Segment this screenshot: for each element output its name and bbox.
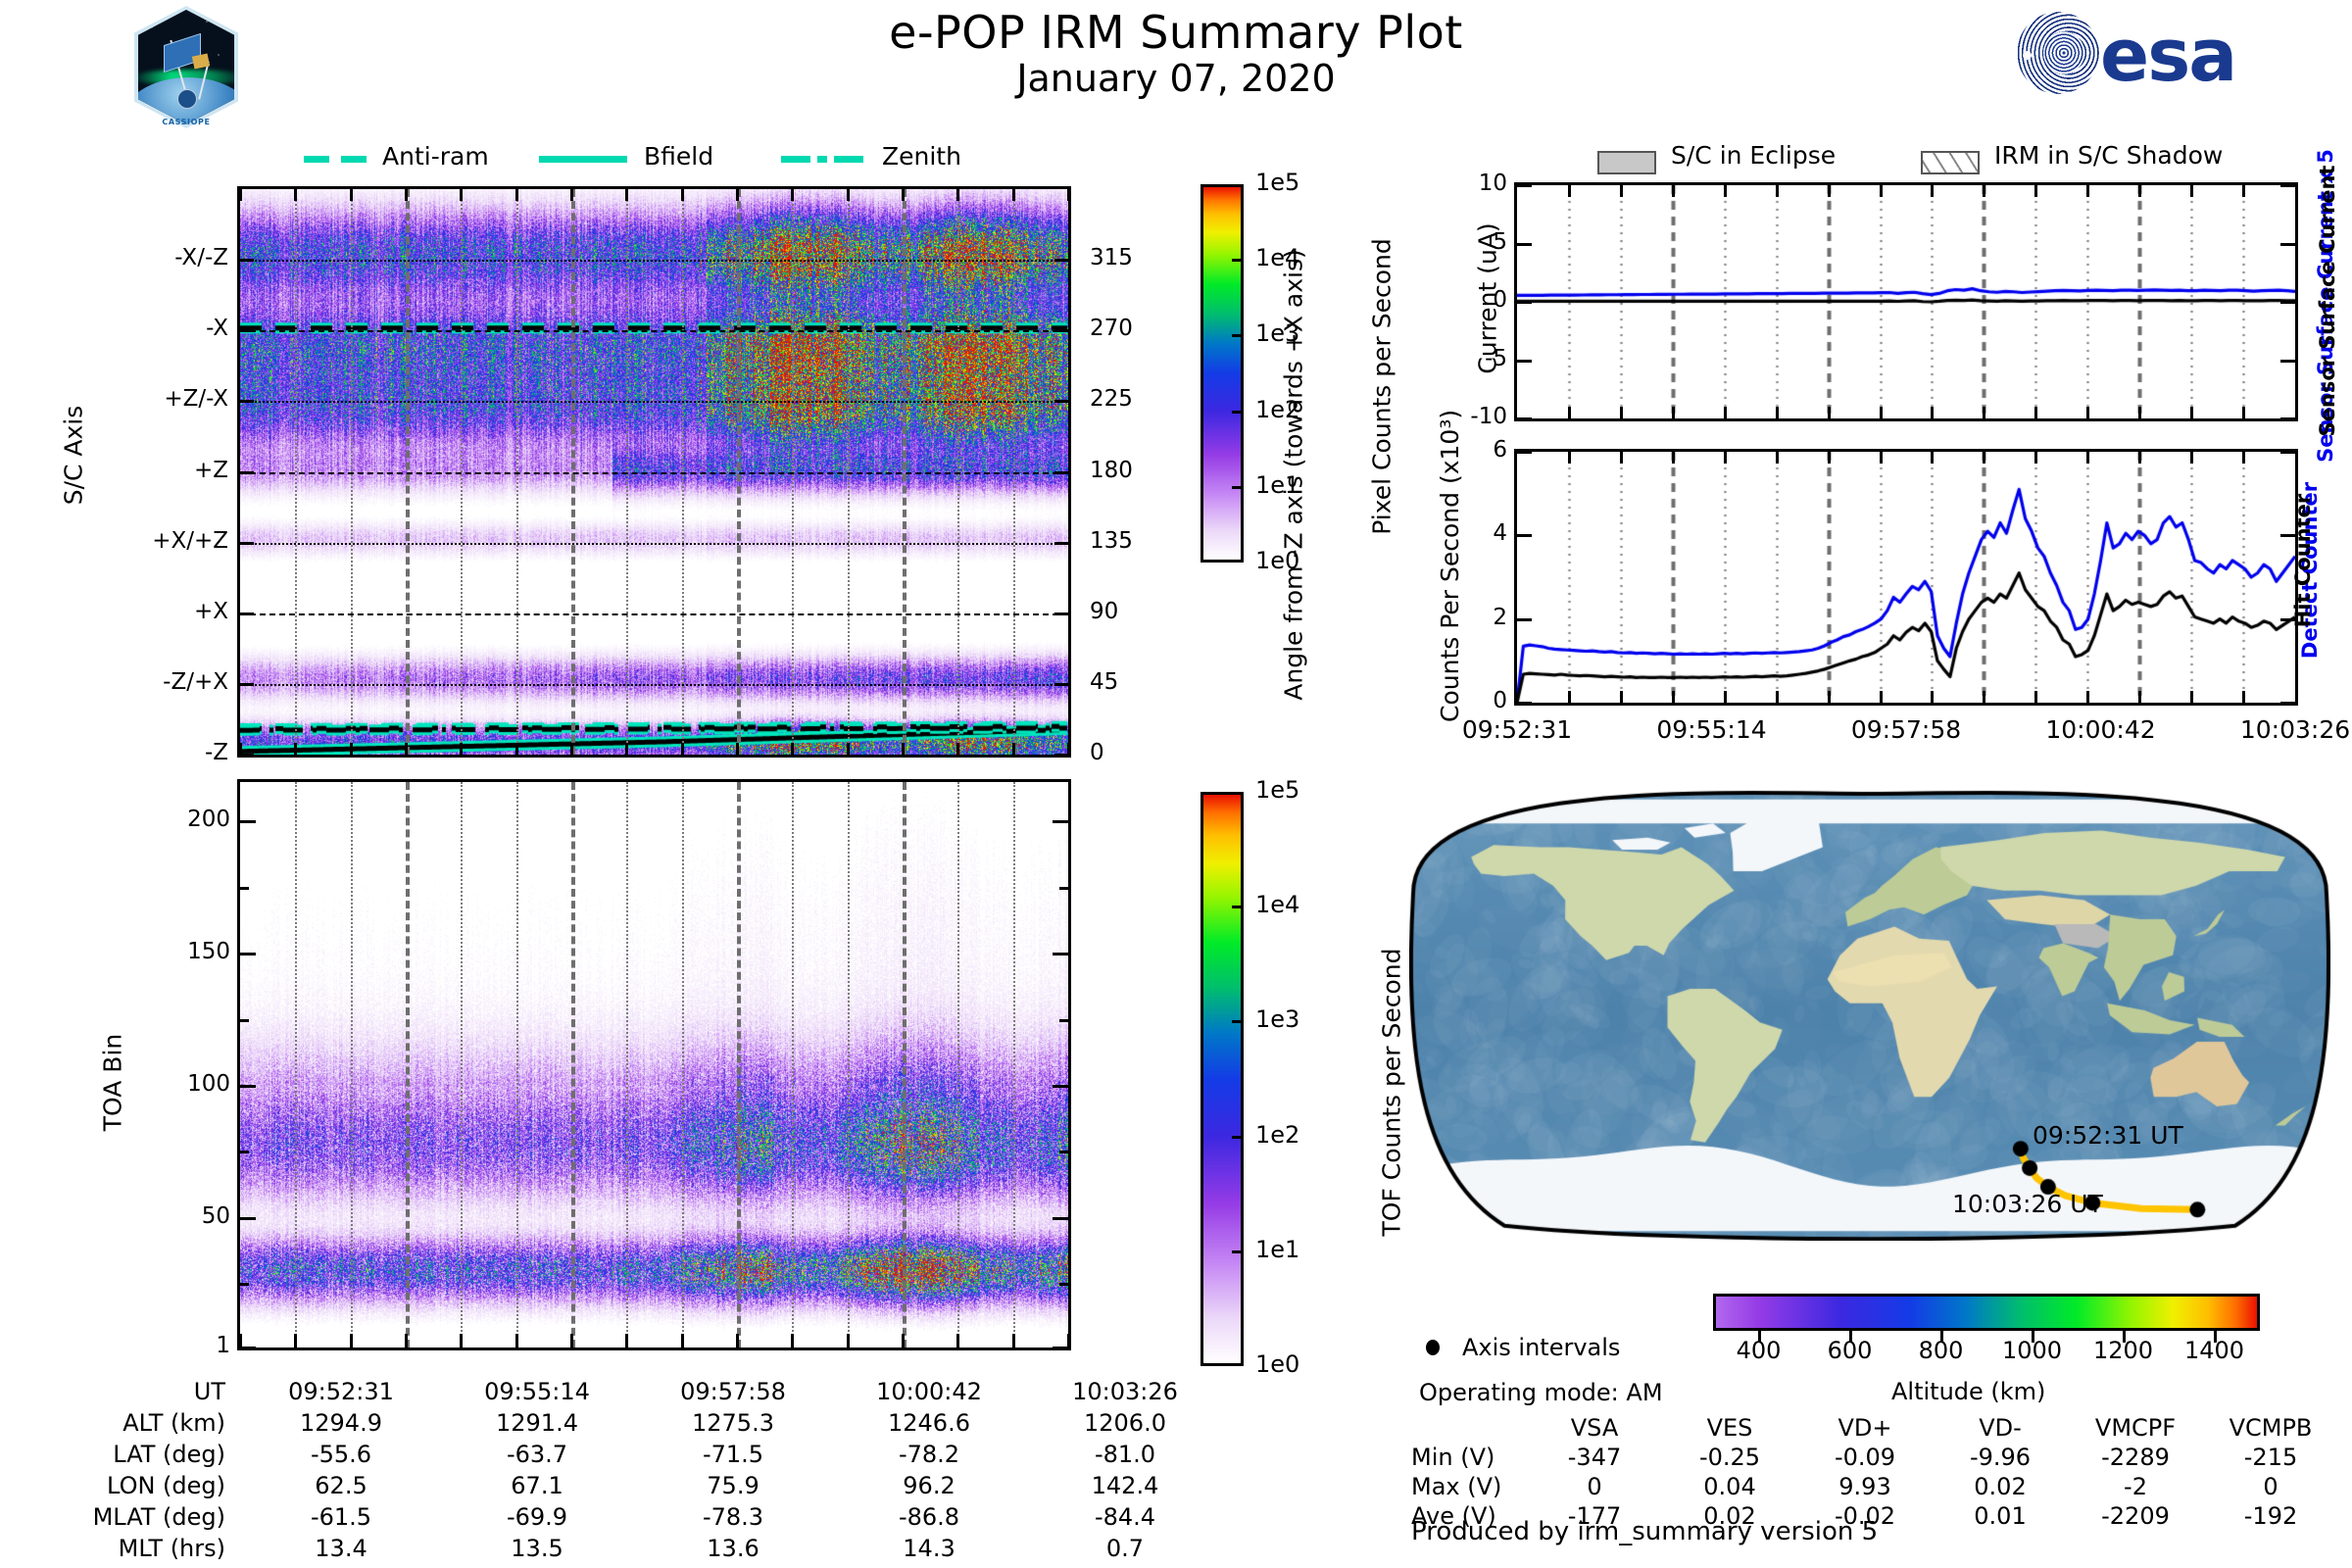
right-tick-mark [1054, 400, 1068, 403]
y-tick-label: 10 [1404, 171, 1507, 196]
angle-separator [240, 684, 1068, 686]
left-tick-mark [240, 471, 254, 474]
ephemeris-cell: 96.2 [831, 1470, 1027, 1501]
left-tick-mark [240, 754, 254, 757]
voltage-cell: 0.01 [1933, 1501, 2068, 1531]
x-tick-mark-top [1724, 452, 1727, 464]
pixel-counts-colorbar-label: Pixel Counts per Second [1368, 201, 1396, 573]
toa-tick-mark-right [1053, 1085, 1068, 1088]
voltage-row: Max (V)00.049.930.02-20 [1411, 1472, 2338, 1501]
spectrogram-left-tick-6: -Z/+X [52, 669, 228, 695]
bfield-legend-swatch [539, 156, 627, 163]
spectrogram-left-tick-0: -X/-Z [52, 245, 228, 270]
toa-minor-tick-right [1059, 887, 1068, 890]
toa-tick-mark-right [1053, 953, 1068, 955]
x-tick-mark-top [1620, 185, 1623, 197]
counts-x-tick-label-2: 09:57:58 [1808, 715, 2004, 744]
x-tick-mark-top [1828, 452, 1831, 464]
angle-x-tick-top [570, 189, 573, 201]
x-tick-mark [2242, 691, 2245, 703]
voltage-column-header: VMCPF [2068, 1413, 2203, 1443]
page-subtitle-date: January 07, 2020 [725, 57, 1627, 100]
voltage-header-row: VSAVESVD+VD-VMCPFVCMPB [1411, 1413, 2338, 1443]
spectrogram-left-tick-1: -X [52, 316, 228, 341]
y-tick-mark-right [2280, 417, 2295, 420]
ephemeris-row: LON (deg)62.567.175.996.2142.4 [59, 1470, 1223, 1501]
right-tick-mark [1054, 542, 1068, 545]
x-tick-mark [1568, 691, 1571, 703]
right-tick-mark [1054, 612, 1068, 615]
sc-in-eclipse-swatch [1597, 151, 1656, 174]
angle-separator [240, 260, 1068, 262]
x-tick-mark [1724, 407, 1727, 418]
x-tick-mark-top [1568, 185, 1571, 197]
voltage-column-header: VD+ [1797, 1413, 1933, 1443]
voltage-cell: -0.09 [1797, 1443, 1933, 1472]
x-tick-mark-top [1776, 185, 1779, 197]
left-tick-mark [240, 542, 254, 545]
toa-tick-mark [240, 820, 256, 823]
voltage-corner [1411, 1413, 1527, 1443]
colorbar-tick [1232, 411, 1244, 414]
gridline-vertical [516, 782, 518, 1347]
y-tick-mark [1517, 702, 1532, 705]
colorbar-tick-label: 1e3 [1255, 319, 1299, 347]
ephemeris-cell: 1291.4 [439, 1407, 635, 1439]
altitude-tick [1758, 1331, 1761, 1343]
angle-x-tick-top [847, 189, 850, 201]
altitude-tick [2214, 1331, 2217, 1343]
angle-x-tick [625, 743, 628, 755]
y-tick-mark [1517, 417, 1532, 420]
angle-x-tick-top [294, 189, 297, 201]
angle-separator [240, 401, 1068, 403]
tof-counts-colorbar-label: TOF Counts per Second [1378, 906, 1406, 1279]
toa-tick-mark [240, 1217, 256, 1220]
x-tick-mark [1672, 407, 1675, 418]
angle-x-tick-top [350, 189, 353, 201]
gridline-vertical [1013, 782, 1015, 1347]
toa-tick-label-3: 150 [93, 939, 230, 964]
ephemeris-cell: 62.5 [243, 1470, 439, 1501]
gridline-vertical [295, 782, 297, 1347]
x-tick-mark-top [2086, 452, 2089, 464]
angle-x-tick [791, 743, 794, 755]
angle-x-tick-top [902, 189, 905, 201]
ephemeris-cell: 1294.9 [243, 1407, 439, 1439]
spectrogram-right-tick-1: 270 [1090, 316, 1178, 341]
left-tick-mark [240, 259, 254, 262]
voltage-cell: -9.96 [1933, 1443, 2068, 1472]
angle-x-tick-top [736, 189, 739, 201]
gridline-vertical [957, 782, 959, 1347]
x-tick-mark-top [1620, 452, 1623, 464]
colorbar-tick-label: 1e0 [1255, 1350, 1299, 1378]
ephemeris-cell: 10:03:26 [1027, 1376, 1223, 1407]
altitude-tick [1849, 1331, 1852, 1343]
colorbar-tick-label: 1e5 [1255, 776, 1299, 804]
colorbar-tick [1232, 486, 1244, 489]
toa-x-tick [902, 1334, 905, 1347]
colorbar-tick-label: 1e3 [1255, 1005, 1299, 1033]
x-tick-mark-top [1880, 452, 1883, 464]
toa-x-tick [1012, 1334, 1015, 1347]
toa-x-tick [681, 1334, 684, 1347]
angle-x-tick [902, 743, 905, 755]
angle-x-tick-top [681, 189, 684, 201]
y-tick-label: 6 [1404, 437, 1507, 463]
ephemeris-cell: 67.1 [439, 1470, 635, 1501]
ephemeris-row-label: MLAT (deg) [59, 1501, 243, 1533]
toa-x-tick [570, 1334, 573, 1347]
current-panel [1514, 182, 2298, 421]
spectrogram-left-tick-7: -Z [52, 740, 228, 765]
gridline-vertical [351, 782, 353, 1347]
x-tick-mark-top [2190, 185, 2193, 197]
spectrogram-right-tick-4: 135 [1090, 528, 1178, 554]
altitude-tick [2123, 1331, 2126, 1343]
toa-tick-label-1: 50 [93, 1203, 230, 1229]
x-tick-mark [2034, 407, 2037, 418]
colorbar-tick [1232, 259, 1244, 262]
altitude-colorbar [1713, 1294, 2260, 1331]
y-tick-mark-right [2280, 702, 2295, 705]
toa-x-tick [294, 1334, 297, 1347]
ephemeris-cell: 10:00:42 [831, 1376, 1027, 1407]
toa-x-tick [625, 1334, 628, 1347]
voltage-cell: -347 [1527, 1443, 1662, 1472]
x-tick-mark [1724, 691, 1727, 703]
x-tick-mark [1620, 691, 1623, 703]
voltage-cell: -0.25 [1662, 1443, 1797, 1472]
ephemeris-cell: -61.5 [243, 1501, 439, 1533]
tof-counts-colorbar [1200, 792, 1244, 1366]
gridline-vertical [682, 782, 684, 1347]
voltage-cell: -192 [2203, 1501, 2338, 1531]
x-tick-mark-top [2034, 452, 2037, 464]
voltage-table: VSAVESVD+VD-VMCPFVCMPBMin (V)-347-0.25-0… [1411, 1413, 2338, 1531]
ephemeris-table: UT09:52:3109:55:1409:57:5810:00:4210:03:… [59, 1376, 1223, 1564]
toa-bin-spectrogram-panel [237, 779, 1071, 1350]
y-tick-mark [1517, 534, 1532, 537]
x-tick-mark-top [2086, 185, 2089, 197]
ephemeris-row-label: LAT (deg) [59, 1439, 243, 1470]
angle-x-tick-top [956, 189, 959, 201]
left-tick-mark [240, 329, 254, 332]
zenith-legend-swatch-dot [817, 156, 827, 163]
y-tick-label: -5 [1404, 346, 1507, 371]
x-tick-mark [1776, 407, 1779, 418]
x-tick-mark-top [2138, 452, 2141, 464]
ephemeris-cell: -86.8 [831, 1501, 1027, 1533]
toa-tick-label-0: 1 [93, 1333, 230, 1358]
colorbar-tick-label: 1e5 [1255, 169, 1299, 196]
toa-tick-label-2: 100 [93, 1071, 230, 1097]
voltage-cell: -2 [2068, 1472, 2203, 1501]
right-tick-mark [1054, 259, 1068, 262]
colorbar-tick [1232, 334, 1244, 337]
ephemeris-row-label: MLT (hrs) [59, 1533, 243, 1564]
toa-x-tick [1067, 1334, 1070, 1347]
angle-separator [240, 472, 1068, 474]
y-tick-mark-right [2280, 184, 2295, 187]
angle-separator [240, 330, 1068, 332]
x-tick-mark [1880, 691, 1883, 703]
right-tick-mark [1054, 683, 1068, 686]
x-tick-mark-top [1776, 452, 1779, 464]
x-tick-mark-top [2242, 452, 2245, 464]
cassiope-mission-patch-icon: CASSIOPE [132, 6, 240, 128]
angle-x-tick-top [515, 189, 518, 201]
angle-x-tick [294, 743, 297, 755]
ephemeris-cell: -84.4 [1027, 1501, 1223, 1533]
counts-x-tick-label-0: 09:52:31 [1419, 715, 1615, 744]
x-tick-mark [2138, 691, 2141, 703]
angle-x-tick [956, 743, 959, 755]
ephemeris-cell: 14.3 [831, 1533, 1027, 1564]
voltage-column-header: VES [1662, 1413, 1797, 1443]
angle-x-tick-top [460, 189, 463, 201]
y-tick-mark [1517, 243, 1532, 246]
x-tick-mark [1568, 407, 1571, 418]
toa-tick-mark-right [1053, 820, 1068, 823]
gridline-vertical [626, 782, 628, 1347]
toa-minor-tick [240, 1283, 249, 1286]
angle-x-tick-top [791, 189, 794, 201]
toa-tick-mark-right [1053, 1347, 1068, 1349]
angle-x-tick-top [1012, 189, 1015, 201]
x-tick-mark [1828, 691, 1831, 703]
x-tick-mark [2138, 407, 2141, 418]
y-tick-mark [1517, 184, 1532, 187]
ephemeris-cell: 1206.0 [1027, 1407, 1223, 1439]
toa-minor-tick [240, 887, 249, 890]
toa-x-tick [515, 1334, 518, 1347]
ephemeris-cell: 1275.3 [635, 1407, 831, 1439]
y-tick-label: 0 [1404, 287, 1507, 313]
gridline-vertical [737, 782, 741, 1347]
x-tick-mark-top [2242, 185, 2245, 197]
voltage-cell: -2289 [2068, 1443, 2203, 1472]
ephemeris-cell: 13.5 [439, 1533, 635, 1564]
ephemeris-cell: -71.5 [635, 1439, 831, 1470]
voltage-cell: 0 [2203, 1472, 2338, 1501]
altitude-tick [2032, 1331, 2034, 1343]
colorbar-tick-label: 1e2 [1255, 1121, 1299, 1149]
ephemeris-row: UT09:52:3109:55:1409:57:5810:00:4210:03:… [59, 1376, 1223, 1407]
y-tick-mark-right [2280, 360, 2295, 363]
y-tick-mark [1517, 451, 1532, 454]
ephemeris-cell: 13.6 [635, 1533, 831, 1564]
x-tick-mark-top [1983, 452, 1985, 464]
gridline-vertical [461, 782, 463, 1347]
left-tick-mark [240, 612, 254, 615]
x-tick-mark-top [1672, 452, 1675, 464]
angle-x-tick [681, 743, 684, 755]
colorbar-tick [1232, 1020, 1244, 1023]
irm-in-shadow-label: IRM in S/C Shadow [1994, 141, 2223, 170]
ephemeris-cell: 142.4 [1027, 1470, 1223, 1501]
x-tick-mark-top [1983, 185, 1985, 197]
angle-x-tick-top [1067, 189, 1070, 201]
x-tick-mark [1983, 691, 1985, 703]
toa-tick-label-4: 200 [93, 807, 230, 832]
angle-x-tick [1012, 743, 1015, 755]
eclipse-legend: S/C in Eclipse IRM in S/C Shadow [1597, 145, 2283, 184]
x-tick-mark [1931, 407, 1934, 418]
angle-x-tick [460, 743, 463, 755]
toa-minor-tick-right [1059, 1019, 1068, 1022]
angle-x-tick [350, 743, 353, 755]
x-tick-mark-top [2034, 185, 2037, 197]
spectrogram-right-tick-7: 0 [1090, 740, 1178, 765]
spectrogram-left-tick-2: +Z/-X [52, 386, 228, 412]
voltage-cell: 9.93 [1797, 1472, 1933, 1501]
toa-minor-tick [240, 1019, 249, 1022]
toa-x-tick [791, 1334, 794, 1347]
bfield-legend-label: Bfield [644, 142, 713, 171]
x-tick-mark-top [1672, 185, 1675, 197]
angle-legend: Anti-ram Bfield Zenith [294, 142, 1039, 181]
gridline-vertical [406, 782, 410, 1347]
counts-right-label-black: Hit Counter [2291, 463, 2315, 659]
x-tick-mark-top [2138, 185, 2141, 197]
ephemeris-cell: 09:57:58 [635, 1376, 831, 1407]
colorbar-tick-label: 1e4 [1255, 244, 1299, 271]
y-tick-label: 4 [1404, 520, 1507, 546]
x-tick-mark [2242, 407, 2245, 418]
angle-separator [240, 613, 1068, 615]
y-tick-mark-right [2280, 243, 2295, 246]
y-tick-label: 5 [1404, 229, 1507, 255]
x-tick-mark [2190, 407, 2193, 418]
y-tick-mark-right [2280, 301, 2295, 304]
esa-wordmark: esa [2100, 14, 2235, 98]
map-start-time-label: 09:52:31 UT [2033, 1121, 2183, 1150]
x-tick-mark-top [1880, 185, 1883, 197]
voltage-row-label: Min (V) [1411, 1443, 1527, 1472]
toa-minor-tick-right [1059, 1283, 1068, 1286]
y-tick-mark [1517, 618, 1532, 621]
ephemeris-cell: 09:55:14 [439, 1376, 635, 1407]
ephemeris-cell: -69.9 [439, 1501, 635, 1533]
spectrogram-left-tick-5: +X [52, 599, 228, 624]
voltage-cell: 0 [1527, 1472, 1662, 1501]
angle-x-tick [736, 743, 739, 755]
colorbar-tick [1232, 1250, 1244, 1253]
current-right-label-black: Sensor Surface Current [2316, 154, 2339, 448]
ephemeris-row: MLT (hrs)13.413.513.614.30.7 [59, 1533, 1223, 1564]
toa-x-tick [350, 1334, 353, 1347]
ephemeris-row: MLAT (deg)-61.5-69.9-78.3-86.8-84.4 [59, 1501, 1223, 1533]
x-tick-mark [2086, 407, 2089, 418]
x-tick-mark [1828, 407, 1831, 418]
toa-x-tick [847, 1334, 850, 1347]
y-tick-mark-right [2280, 451, 2295, 454]
toa-x-tick [239, 1334, 242, 1347]
x-tick-mark [2034, 691, 2037, 703]
colorbar-tick-label: 1e4 [1255, 891, 1299, 918]
toa-x-tick [956, 1334, 959, 1347]
voltage-column-header: VCMPB [2203, 1413, 2338, 1443]
x-tick-mark [1672, 691, 1675, 703]
altitude-colorbar-label: Altitude (km) [1891, 1378, 2045, 1405]
operating-mode-label: Operating mode: AM [1419, 1379, 1663, 1406]
irm-in-shadow-swatch [1921, 151, 1980, 174]
zenith-legend-swatch-2 [834, 156, 863, 163]
angle-x-tick-top [625, 189, 628, 201]
left-tick-mark [240, 400, 254, 403]
voltage-row: Min (V)-347-0.25-0.09-9.96-2289-215 [1411, 1443, 2338, 1472]
voltage-cell: -215 [2203, 1443, 2338, 1472]
zenith-legend-label: Zenith [882, 142, 961, 171]
counts-x-tick-label-1: 09:55:14 [1614, 715, 1810, 744]
voltage-row-label: Max (V) [1411, 1472, 1527, 1501]
x-tick-mark-top [1724, 185, 1727, 197]
ephemeris-row-label: ALT (km) [59, 1407, 243, 1439]
angle-x-tick [405, 743, 408, 755]
voltage-cell: 0.02 [1933, 1472, 2068, 1501]
counts-x-tick-label-3: 10:00:42 [2003, 715, 2199, 744]
axis-intervals-label: Axis intervals [1462, 1334, 1620, 1361]
spectrogram-right-tick-3: 180 [1090, 458, 1178, 483]
map-end-time-label: 10:03:26 UT [1952, 1190, 2103, 1218]
spectrogram-right-tick-5: 90 [1090, 599, 1178, 624]
toa-x-tick [460, 1334, 463, 1347]
left-tick-mark [240, 683, 254, 686]
footer-produced-by: Produced by irm_summary version 5 [1411, 1517, 1878, 1546]
y-tick-label: 2 [1404, 605, 1507, 630]
patch-label: CASSIOPE [132, 118, 240, 126]
spectrogram-right-tick-0: 315 [1090, 245, 1178, 270]
ephemeris-row: ALT (km)1294.91291.41275.31246.61206.0 [59, 1407, 1223, 1439]
x-tick-mark-top [1931, 185, 1934, 197]
y-tick-mark [1517, 301, 1532, 304]
x-tick-mark-top [1828, 185, 1831, 197]
gridline-vertical [792, 782, 794, 1347]
ground-track-map: 09:52:31 UT 10:03:26 UT [1409, 790, 2330, 1241]
ephemeris-cell: -81.0 [1027, 1439, 1223, 1470]
x-tick-mark-top [1931, 452, 1934, 464]
ephemeris-cell: 09:52:31 [243, 1376, 439, 1407]
angle-x-tick [239, 743, 242, 755]
spectrogram-right-tick-6: 45 [1090, 669, 1178, 695]
y-tick-label: 0 [1404, 688, 1507, 713]
colorbar-tick-label: 1e1 [1255, 471, 1299, 499]
gridline-vertical [848, 782, 850, 1347]
spectrogram-left-tick-3: +Z [52, 458, 228, 483]
altitude-tick [1940, 1331, 1943, 1343]
angle-x-tick [847, 743, 850, 755]
spectrogram-right-tick-2: 225 [1090, 386, 1178, 412]
x-tick-mark [1931, 691, 1934, 703]
colorbar-tick-label: 1e1 [1255, 1236, 1299, 1263]
counts-panel [1514, 449, 2298, 706]
toa-tick-mark [240, 1347, 256, 1349]
toa-x-tick [736, 1334, 739, 1347]
sc-in-eclipse-label: S/C in Eclipse [1671, 141, 1836, 170]
angle-x-tick-top [405, 189, 408, 201]
pixel-counts-colorbar [1200, 184, 1244, 563]
angle-x-tick [570, 743, 573, 755]
angle-x-tick [1067, 743, 1070, 755]
colorbar-tick-label: 1e0 [1255, 547, 1299, 574]
ephemeris-cell: -63.7 [439, 1439, 635, 1470]
toa-minor-tick-right [1059, 1151, 1068, 1153]
zenith-legend-swatch [781, 156, 810, 163]
axis-intervals-marker-icon [1426, 1340, 1440, 1355]
x-tick-mark [2190, 691, 2193, 703]
